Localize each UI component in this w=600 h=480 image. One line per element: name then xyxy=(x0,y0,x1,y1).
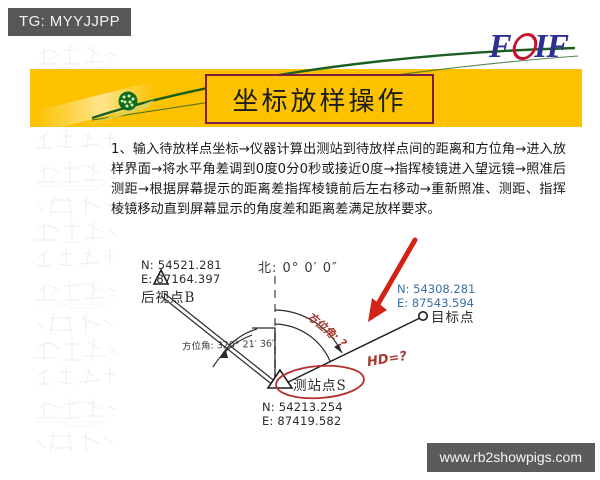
page-title: 坐标放样操作 xyxy=(232,81,406,118)
backsight-point-label: 后视点B xyxy=(141,286,195,306)
survey-diagram: N: 54521.281 E: 87164.397 后视点B 北: 0° 0′ … xyxy=(30,236,582,451)
target-point-label: 目标点 xyxy=(431,306,475,326)
slide-page: FOIF 坐标放样操作 1、输入待放样点坐标→仪器计算出测站到待放样点间的距离和… xyxy=(30,8,582,468)
foif-logo: FOIF xyxy=(489,30,568,64)
foif-letter-f2: F xyxy=(546,28,568,65)
station-point-label: 测站点S xyxy=(293,374,347,394)
site-watermark-badge: www.rb2showpigs.com xyxy=(427,443,595,472)
target-coord-n: N: 54308.281 xyxy=(397,282,475,296)
backsight-coord-e: E: 87164.397 xyxy=(141,272,220,286)
station-coord-e: E: 87419.582 xyxy=(262,414,341,428)
body-paragraph: 1、输入待放样点坐标→仪器计算出测站到待放样点间的距离和方位角→进入放样界面→将… xyxy=(111,140,566,220)
tg-watermark-badge: TG: MYYJJPP xyxy=(8,8,131,36)
slide-title-box: 坐标放样操作 xyxy=(205,74,434,124)
north-label: 北: 0° 0′ 0″ xyxy=(258,257,338,276)
station-coord-n: N: 54213.254 xyxy=(262,400,343,414)
foif-letter-o: O xyxy=(511,28,535,65)
foif-letter-f1: F xyxy=(489,28,511,65)
slide-canvas: FOIF 坐标放样操作 1、输入待放样点坐标→仪器计算出测站到待放样点间的距离和… xyxy=(0,0,600,480)
backsight-coord-n: N: 54521.281 xyxy=(141,258,222,272)
